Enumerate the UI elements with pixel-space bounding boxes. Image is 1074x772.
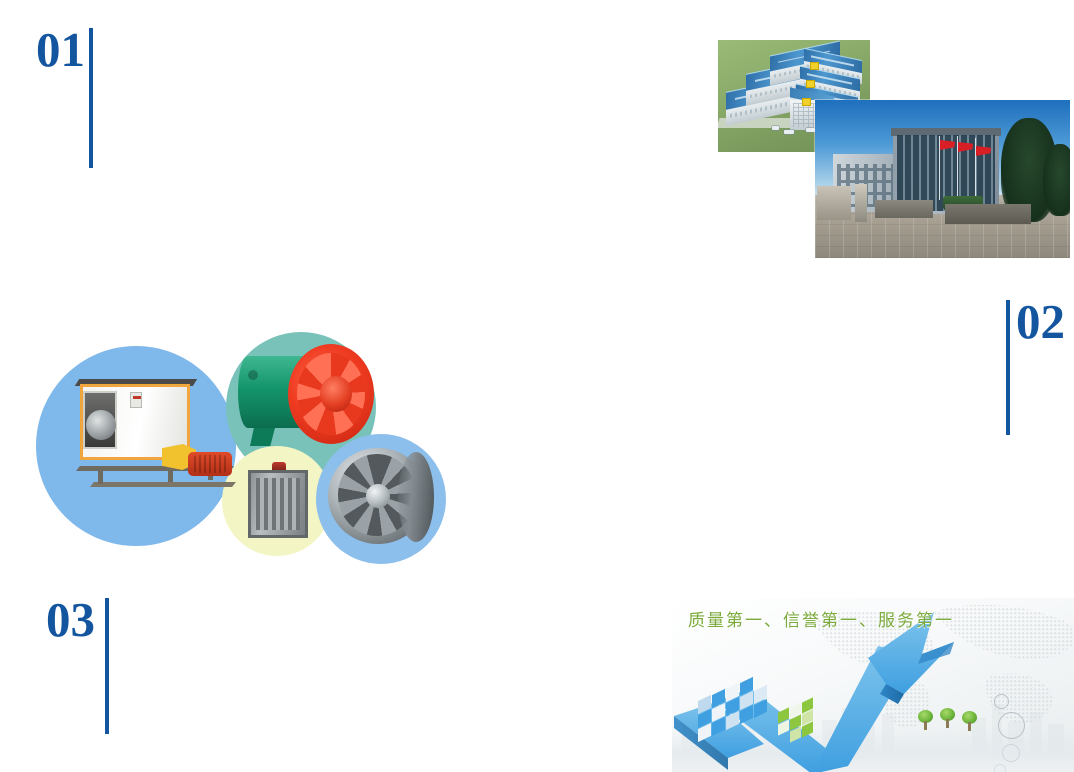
boundary-wall bbox=[945, 204, 1031, 224]
control-panel bbox=[130, 392, 142, 408]
electric-motor bbox=[188, 452, 232, 476]
section-number-02: 02 bbox=[1016, 298, 1065, 346]
growth-arrow-banner: 质量第一、信誉第一、服务第一 bbox=[672, 598, 1074, 772]
parked-truck bbox=[784, 130, 794, 134]
section-rule-02 bbox=[1006, 300, 1010, 435]
section-rule-01 bbox=[89, 28, 93, 168]
fan-rim bbox=[398, 452, 434, 542]
blue-cube-cluster bbox=[698, 672, 770, 736]
bubble-circle bbox=[998, 712, 1025, 739]
slogan-text: 质量第一、信誉第一、服务第一 bbox=[688, 606, 954, 631]
flagpole bbox=[939, 136, 940, 200]
gate-post bbox=[855, 184, 867, 222]
section-marker-02: 02 bbox=[1006, 298, 1065, 435]
bubble-circle bbox=[994, 694, 1009, 709]
section-rule-03 bbox=[105, 598, 109, 734]
yard-marker bbox=[806, 80, 815, 88]
damper-body bbox=[248, 470, 308, 538]
section-number-01: 01 bbox=[36, 26, 85, 74]
fan-hub bbox=[366, 484, 390, 508]
section-marker-03: 03 bbox=[46, 596, 109, 734]
parked-vehicles bbox=[875, 200, 933, 218]
bubble-circle bbox=[1002, 744, 1020, 762]
product-air-damper-valve bbox=[236, 458, 322, 544]
office-building-image bbox=[815, 100, 1070, 258]
base-frame bbox=[90, 482, 236, 487]
green-cube-cluster bbox=[778, 698, 822, 740]
flagpole bbox=[957, 136, 958, 200]
guard-house bbox=[817, 186, 851, 220]
yard-marker bbox=[810, 62, 819, 70]
bubble-circle bbox=[994, 764, 1006, 772]
section-number-03: 03 bbox=[46, 596, 95, 644]
parked-truck bbox=[806, 128, 815, 132]
company-facility-photos bbox=[715, 40, 1070, 258]
conifer-tree bbox=[1043, 144, 1070, 216]
product-metal-axial-fan bbox=[326, 446, 438, 550]
flagpole bbox=[975, 138, 976, 200]
product-collage bbox=[36, 318, 426, 558]
parked-truck bbox=[772, 126, 779, 130]
frame-leg bbox=[98, 466, 103, 484]
yard-marker bbox=[802, 98, 811, 106]
section-marker-01: 01 bbox=[36, 26, 93, 168]
impeller-hub bbox=[320, 376, 352, 412]
tree-row bbox=[918, 708, 996, 738]
page-canvas: 01 02 03 bbox=[0, 0, 1074, 772]
centrifugal-impeller bbox=[86, 410, 116, 440]
product-cabinet-centrifugal-fan bbox=[58, 370, 226, 520]
